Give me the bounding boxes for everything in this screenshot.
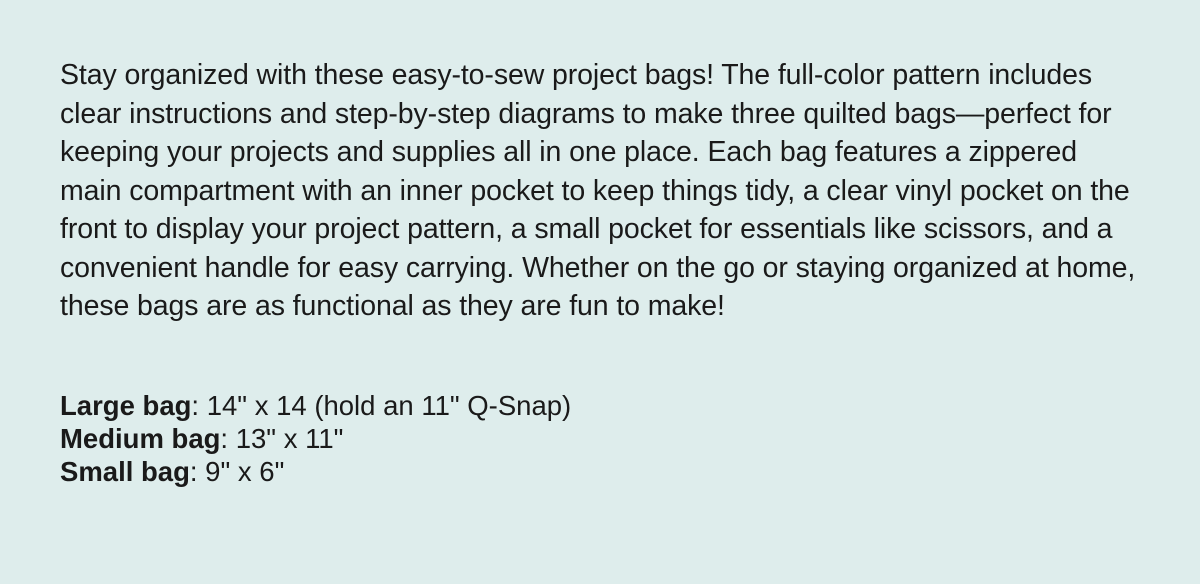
bag-sizes-list: Large bag: 14" x 14 (hold an 11" Q-Snap)…	[60, 326, 1140, 488]
size-line-large: Large bag: 14" x 14 (hold an 11" Q-Snap)	[60, 389, 1140, 422]
size-line-medium: Medium bag: 13" x 11"	[60, 422, 1140, 455]
content-container: Stay organized with these easy-to-sew pr…	[60, 0, 1140, 488]
product-description-page: Stay organized with these easy-to-sew pr…	[0, 0, 1200, 584]
size-value-large: : 14" x 14 (hold an 11" Q-Snap)	[191, 390, 571, 421]
size-value-small: : 9" x 6"	[190, 456, 284, 487]
size-value-medium: : 13" x 11"	[220, 423, 343, 454]
size-line-small: Small bag: 9" x 6"	[60, 455, 1140, 488]
size-label-large: Large bag	[60, 390, 191, 421]
product-description-paragraph: Stay organized with these easy-to-sew pr…	[60, 0, 1140, 326]
size-label-medium: Medium bag	[60, 423, 220, 454]
size-label-small: Small bag	[60, 456, 190, 487]
